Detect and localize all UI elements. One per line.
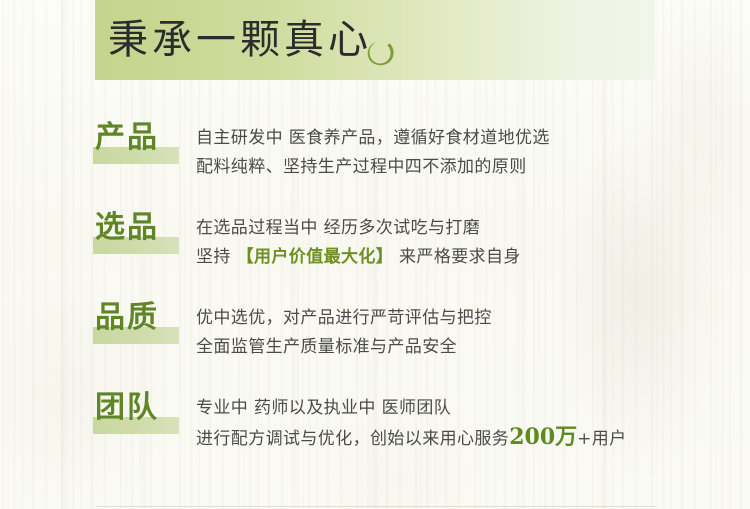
body-text: +用户 [577,429,626,449]
section-body-line: 自主研发中 医食养产品，遵循好食材道地优选 [196,124,741,153]
page-root: 秉承一颗真心 产品自主研发中 医食养产品，遵循好食材道地优选配料纯粹、坚持生产过… [0,0,750,509]
page-title: 秉承一颗真心 [108,14,372,66]
body-text: 专业中 药师以及执业中 医师团队 [196,398,451,418]
section-body-line: 在选品过程当中 经历多次试吃与打磨 [196,214,741,243]
circle-swirl-icon [360,32,402,74]
section-2: 品质优中选优，对产品进行严苛评估与把控全面监管生产质量标准与产品安全 [0,298,750,374]
body-text: 自主研发中 医食养产品，遵循好食材道地优选 [196,128,550,148]
section-body-1: 在选品过程当中 经历多次试吃与打磨坚持 【用户价值最大化】 来严格要求自身 [196,214,741,272]
section-label-text: 团队 [95,388,159,428]
section-body-line: 进行配方调试与优化，创始以来用心服务200万+用户 [196,423,741,454]
body-text: 进行配方调试与优化，创始以来用心服务 [196,429,509,449]
section-body-0: 自主研发中 医食养产品，遵循好食材道地优选配料纯粹、坚持生产过程中四不添加的原则 [196,124,741,182]
section-0: 产品自主研发中 医食养产品，遵循好食材道地优选配料纯粹、坚持生产过程中四不添加的… [0,118,750,194]
section-label-0: 产品 [93,118,185,166]
section-label-2: 品质 [93,298,185,346]
section-body-line: 专业中 药师以及执业中 医师团队 [196,394,741,423]
body-text: 来严格要求自身 [393,247,521,267]
section-label-text: 品质 [95,298,159,338]
section-body-line: 全面监管生产质量标准与产品安全 [196,333,741,362]
section-1: 选品在选品过程当中 经历多次试吃与打磨坚持 【用户价值最大化】 来严格要求自身 [0,208,750,284]
body-text-highlight: 【用户价值最大化】 [237,247,394,267]
section-body-3: 专业中 药师以及执业中 医师团队进行配方调试与优化，创始以来用心服务200万+用… [196,394,741,454]
body-text: 优中选优，对产品进行严苛评估与把控 [196,308,492,328]
section-body-line: 配料纯粹、坚持生产过程中四不添加的原则 [196,153,741,182]
body-text-highlight: 200万 [509,424,577,450]
section-label-3: 团队 [93,388,185,436]
section-label-1: 选品 [93,208,185,256]
body-text: 全面监管生产质量标准与产品安全 [196,337,457,357]
section-body-line: 优中选优，对产品进行严苛评估与把控 [196,304,741,333]
section-label-text: 选品 [95,208,159,248]
body-text: 在选品过程当中 经历多次试吃与打磨 [196,218,480,238]
bottom-divider [96,506,656,507]
section-body-2: 优中选优，对产品进行严苛评估与把控全面监管生产质量标准与产品安全 [196,304,741,362]
section-body-line: 坚持 【用户价值最大化】 来严格要求自身 [196,243,741,272]
section-label-text: 产品 [95,118,159,158]
section-3: 团队专业中 药师以及执业中 医师团队进行配方调试与优化，创始以来用心服务200万… [0,388,750,464]
body-text: 配料纯粹、坚持生产过程中四不添加的原则 [196,157,527,177]
body-text: 坚持 [196,247,237,267]
